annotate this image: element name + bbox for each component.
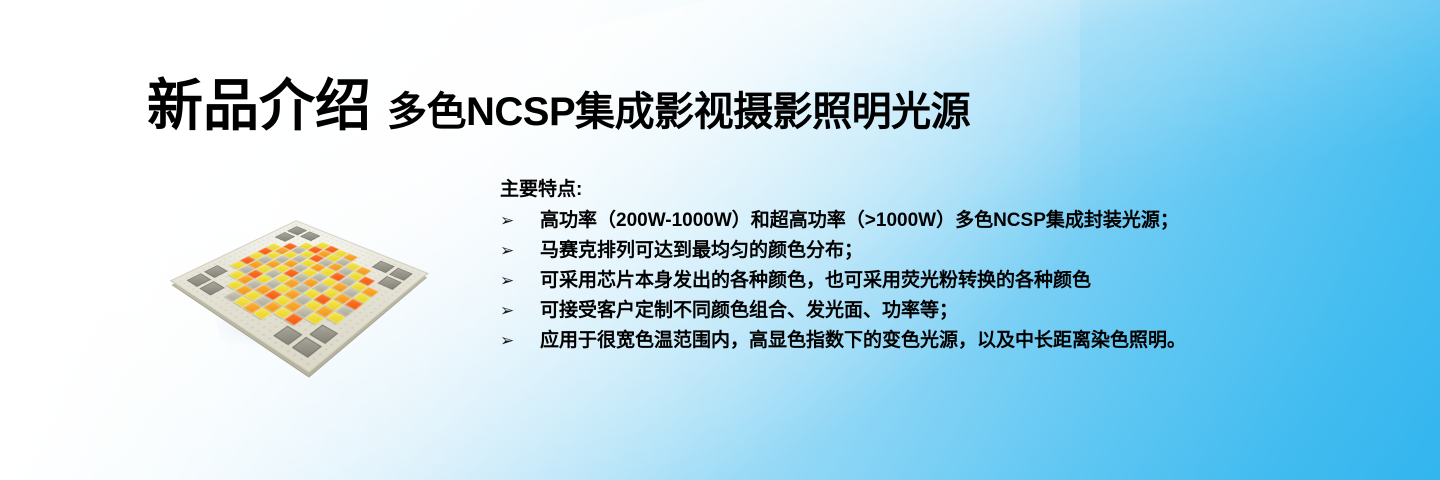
cob-led-chip [304,289,321,299]
cob-led-chip [345,299,363,310]
cob-scene [196,176,412,356]
cob-led-chip [334,293,352,303]
cob-led-chip [316,306,334,317]
cob-empty-cell [199,276,216,285]
cob-empty-cell [317,319,336,331]
cob-led-chip [327,312,346,324]
feature-bullet-text: 高功率（200W-1000W）和超高功率（>1000W）多色NCSP集成封装光源… [540,206,1400,236]
cob-led-chip [305,300,323,311]
cob-empty-cell [295,320,314,333]
cob-empty-cell [370,281,387,291]
cob-led-chip [351,282,368,292]
feature-bullet-item: ➢马赛克排列可达到最均匀的颜色分布； [500,236,1400,266]
cob-empty-cell [296,334,316,348]
bullet-arrow-icon: ➢ [500,236,540,266]
cob-led-chip [362,287,379,297]
cob-led-chip [243,302,261,313]
cob-board [171,221,428,373]
cob-led-chip [274,307,292,319]
cob-led-chip [294,295,312,306]
cob-led-chip [343,288,360,298]
cob-led-chip [314,294,332,305]
cob-led-chip [254,296,272,307]
cob-led-chip [284,279,301,288]
cob-led-chip [274,284,291,294]
cob-led-chip [255,285,272,295]
bullet-arrow-icon: ➢ [500,296,540,326]
cob-contact-pad [199,281,224,295]
cob-led-chip [265,279,282,288]
feature-bullet-text: 应用于很宽色温范围内，高显色指数下的变色光源，以及中长距离染色照明。 [540,326,1400,356]
cob-contact-pad [309,325,338,344]
feature-bullet-list: ➢高功率（200W-1000W）和超高功率（>1000W）多色NCSP集成封装光… [500,206,1400,356]
cob-led-chip [227,280,244,290]
cob-led-module-image [196,176,412,356]
feature-bullet-text: 马赛克排列可达到最均匀的颜色分布； [540,236,1400,266]
cob-led-chip [306,313,325,325]
cob-led-chip [359,276,375,285]
cob-led-chip [313,283,330,293]
bullet-arrow-icon: ➢ [500,206,540,236]
cob-led-chip [295,307,313,318]
cob-led-chip [234,297,252,308]
bullet-arrow-icon: ➢ [500,266,540,296]
feature-list-heading: 主要特点: [500,176,1400,204]
cob-led-chip [253,308,272,320]
cob-led-chip [323,288,340,298]
feature-bullet-item: ➢可接受客户定制不同颜色组合、发光面、功率等； [500,296,1400,326]
cob-empty-cell [377,276,393,285]
cob-contact-pad [292,337,322,358]
cob-led-chip [264,290,281,300]
cob-led-chip [284,313,303,325]
cob-led-chip [293,284,310,294]
cob-empty-cell [263,314,282,326]
feature-bullet-item: ➢应用于很宽色温范围内，高显色指数下的变色光源，以及中长距离染色照明。 [500,326,1400,356]
feature-bullet-item: ➢高功率（200W-1000W）和超高功率（>1000W）多色NCSP集成封装光… [500,206,1400,236]
feature-list-block: 主要特点: ➢高功率（200W-1000W）和超高功率（>1000W）多色NCS… [500,176,1400,356]
cob-empty-cell [207,281,224,291]
cob-led-chip [284,289,301,299]
cob-led-chip [321,278,338,287]
cob-led-chip [332,282,349,292]
cob-led-chip [274,295,292,306]
cob-led-chip [235,285,252,295]
page-title: 新品介绍 多色NCSP集成影视摄影照明光源 [147,78,970,134]
cob-led-chip-array [199,231,400,347]
cob-led-chip [336,305,354,316]
cob-substrate [171,221,428,373]
title-main-text: 新品介绍 [147,78,371,134]
bullet-arrow-icon: ➢ [500,326,540,356]
feature-bullet-text: 可采用芯片本身发出的各种颜色，也可采用荧光粉转换的各种颜色 [540,266,1400,296]
title-subtitle-text: 多色NCSP集成影视摄影照明光源 [387,92,970,132]
feature-bullet-item: ➢可采用芯片本身发出的各种颜色，也可采用荧光粉转换的各种颜色 [500,266,1400,296]
cob-empty-cell [307,326,327,339]
cob-contact-pad [378,276,402,290]
cob-led-chip [225,291,243,301]
cob-empty-cell [216,286,233,296]
feature-bullet-text: 可接受客户定制不同颜色组合、发光面、功率等； [540,296,1400,326]
cob-led-chip [303,278,320,287]
slide-root: 新品介绍 多色NCSP集成影视摄影照明光源 [0,0,1440,480]
cob-led-chip [246,280,263,289]
cob-led-chip [284,301,302,312]
cob-led-chip [354,293,371,303]
cob-led-chip [244,290,262,300]
cob-led-chip [325,300,343,311]
cob-empty-cell [274,320,293,333]
cob-led-chip [340,277,357,286]
cob-empty-cell [285,327,305,340]
cob-led-chip [264,302,282,313]
cob-contact-pad [273,326,302,346]
